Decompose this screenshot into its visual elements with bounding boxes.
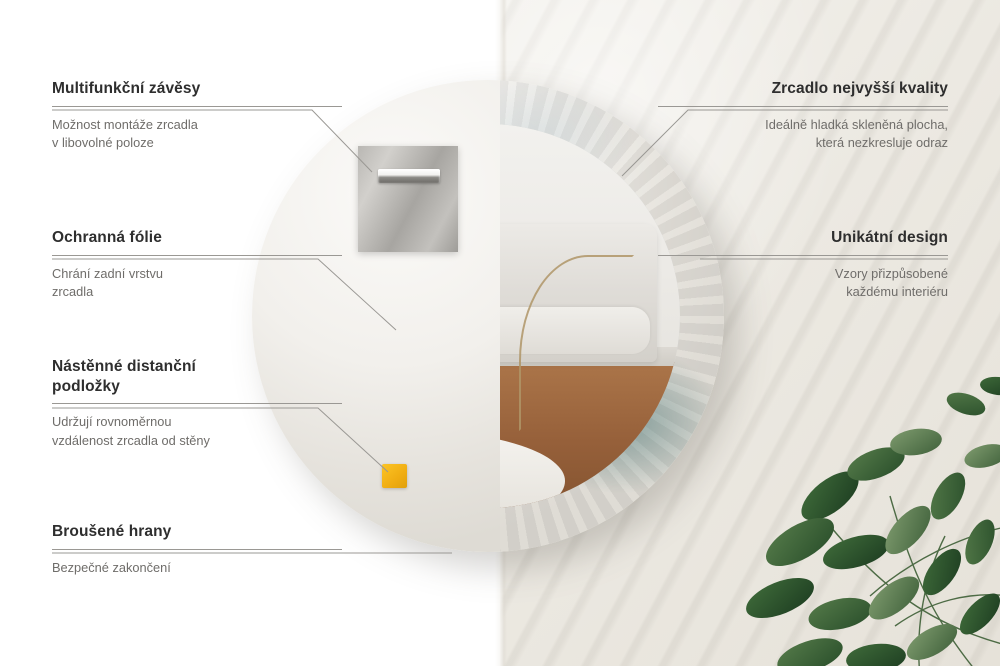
callout-title: Nástěnné distanční podložky bbox=[52, 357, 342, 396]
callout-title: Ochranná fólie bbox=[52, 228, 342, 248]
callout-title: Multifunkční závěsy bbox=[52, 79, 342, 99]
foliage-decoration bbox=[680, 346, 1000, 666]
callout-title: Zrcadlo nejvyšší kvality bbox=[658, 79, 948, 99]
callout-rule bbox=[52, 255, 342, 256]
callout-title: Broušené hrany bbox=[52, 522, 342, 542]
callout-body: Ideálně hladká skleněná plocha, která ne… bbox=[658, 116, 948, 154]
callout-body: Udržují rovnoměrnou vzdálenost zrcadla o… bbox=[52, 413, 342, 451]
callout-unique-design: Unikátní design Vzory přizpůsobené každé… bbox=[658, 228, 948, 302]
callout-rule bbox=[658, 106, 948, 107]
callout-rule bbox=[52, 549, 342, 550]
callout-body: Chrání zadní vrstvu zrcadla bbox=[52, 265, 342, 303]
callout-multifunctional-hangers: Multifunkční závěsy Možnost montáže zrca… bbox=[52, 79, 342, 153]
callout-protective-film: Ochranná fólie Chrání zadní vrstvu zrcad… bbox=[52, 228, 342, 302]
callout-body: Bezpečné zakončení bbox=[52, 559, 342, 578]
callout-rule bbox=[52, 106, 342, 107]
plant-leaves-icon bbox=[680, 346, 1000, 666]
callout-body: Vzory přizpůsobené každému interiéru bbox=[658, 265, 948, 303]
callout-ground-edges: Broušené hrany Bezpečné zakončení bbox=[52, 522, 342, 577]
callout-wall-spacers: Nástěnné distanční podložky Udržují rovn… bbox=[52, 357, 342, 451]
infographic-stage: Multifunkční závěsy Možnost montáže zrca… bbox=[0, 0, 1000, 666]
hanger-slot bbox=[378, 169, 440, 183]
callout-rule bbox=[658, 255, 948, 256]
callout-body: Možnost montáže zrcadla v libovolné polo… bbox=[52, 116, 342, 154]
callout-highest-quality-mirror: Zrcadlo nejvyšší kvality Ideálně hladká … bbox=[658, 79, 948, 153]
wall-spacer-pad bbox=[382, 464, 407, 488]
callout-title: Unikátní design bbox=[658, 228, 948, 248]
callout-rule bbox=[52, 403, 342, 404]
multifunctional-hanger-plate bbox=[358, 146, 458, 252]
